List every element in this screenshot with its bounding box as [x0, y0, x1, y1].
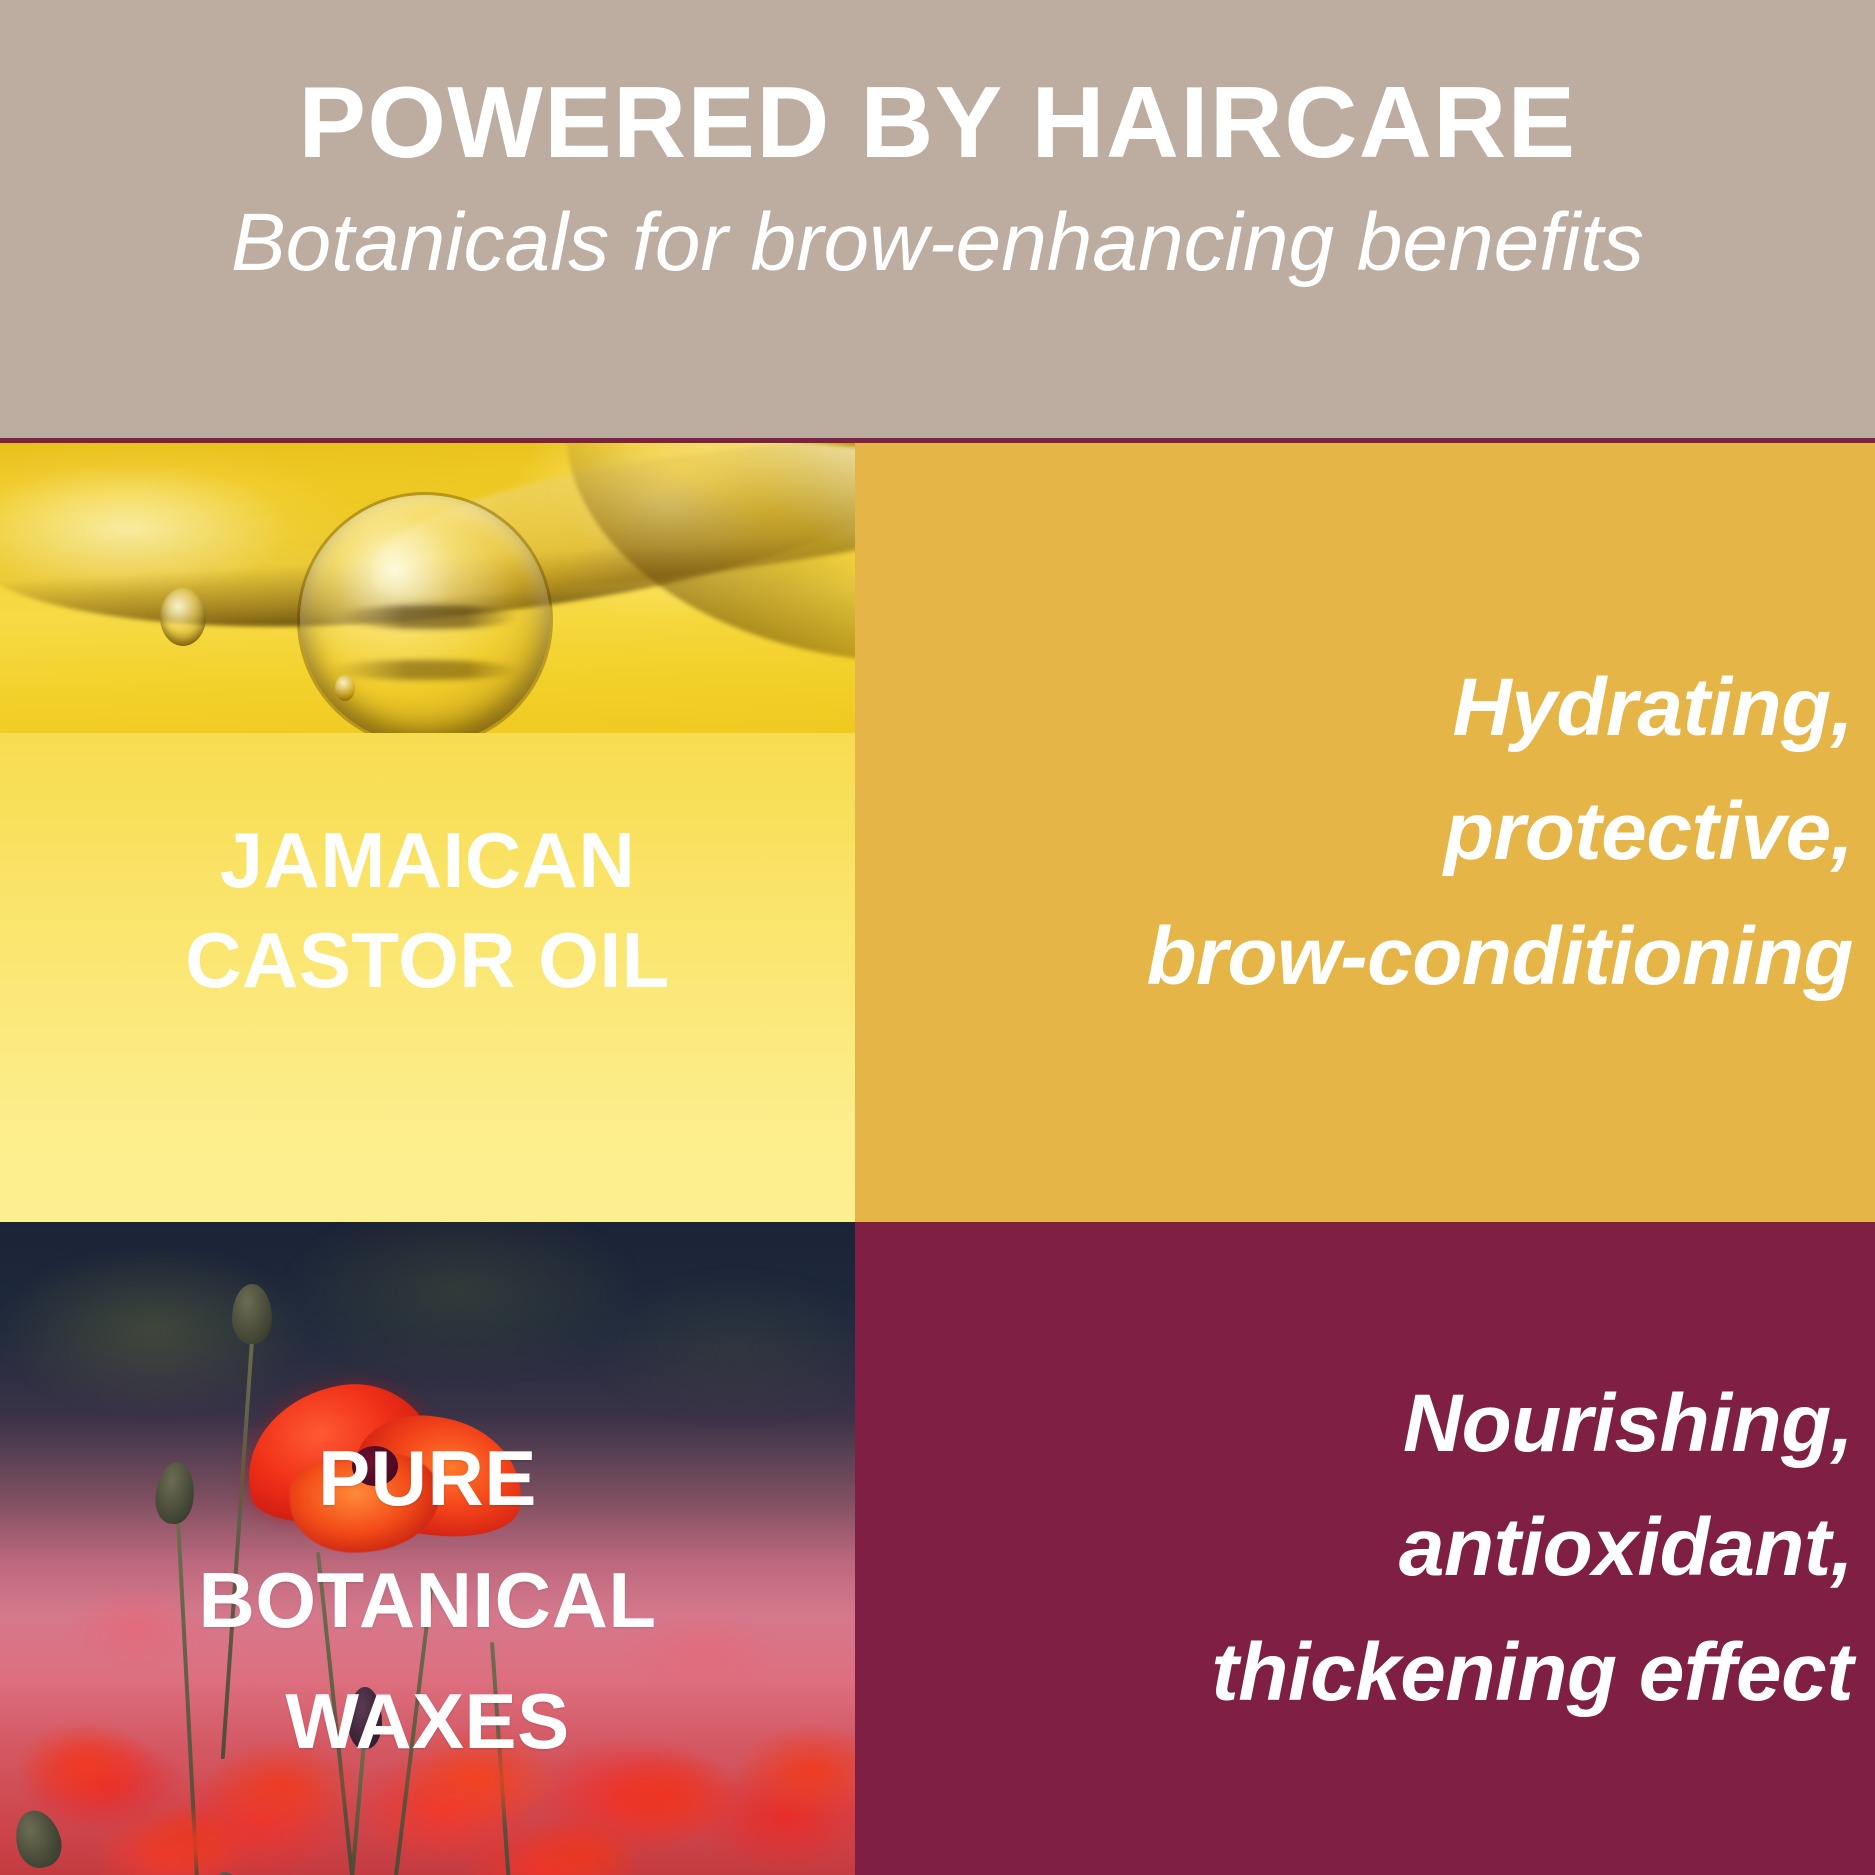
benefits-panel-castor-oil: Hydrating, protective, brow-conditioning — [855, 443, 1875, 1222]
ingredient-name-line-2: CASTOR OIL — [0, 911, 855, 1011]
benefit-line: Hydrating, — [1146, 646, 1853, 771]
ingredient-tile-castor-oil: JAMAICAN CASTOR OIL — [0, 443, 855, 1222]
benefit-list-botanical-waxes: Nourishing, antioxidant, thickening effe… — [1211, 1362, 1875, 1736]
benefit-line: Nourishing, — [1211, 1362, 1853, 1487]
ingredient-name-line-1: PURE — [0, 1418, 855, 1540]
page-title: POWERED BY HAIRCARE — [298, 70, 1576, 176]
ingredient-name-castor-oil: JAMAICAN CASTOR OIL — [0, 811, 855, 1011]
benefit-line: protective, — [1146, 770, 1853, 895]
poppy-bud — [232, 1284, 272, 1344]
ingredient-name-line-2: BOTANICAL — [0, 1540, 855, 1662]
ingredient-grid: JAMAICAN CASTOR OIL Hydrating, protectiv… — [0, 443, 1875, 1875]
page-subtitle: Botanicals for brow-enhancing benefits — [231, 198, 1644, 288]
oil-bubble-tiny — [335, 675, 355, 701]
ingredient-benefits-poster: POWERED BY HAIRCARE Botanicals for brow-… — [0, 0, 1875, 1875]
ingredient-name-line-3: WAXES — [0, 1661, 855, 1783]
benefits-panel-botanical-waxes: Nourishing, antioxidant, thickening effe… — [855, 1222, 1875, 1875]
oil-bubble-small — [160, 588, 206, 646]
castor-oil-photo — [0, 443, 855, 733]
benefit-list-castor-oil: Hydrating, protective, brow-conditioning — [1146, 646, 1875, 1020]
poster-header: POWERED BY HAIRCARE Botanicals for brow-… — [0, 0, 1875, 443]
ingredient-name-line-1: JAMAICAN — [0, 811, 855, 911]
benefit-line: antioxidant, — [1211, 1486, 1853, 1611]
ingredient-name-botanical-waxes: PURE BOTANICAL WAXES — [0, 1418, 855, 1783]
benefit-line: thickening effect — [1211, 1611, 1853, 1736]
benefit-line: brow-conditioning — [1146, 895, 1853, 1020]
ingredient-tile-botanical-waxes: PURE BOTANICAL WAXES — [0, 1222, 855, 1875]
